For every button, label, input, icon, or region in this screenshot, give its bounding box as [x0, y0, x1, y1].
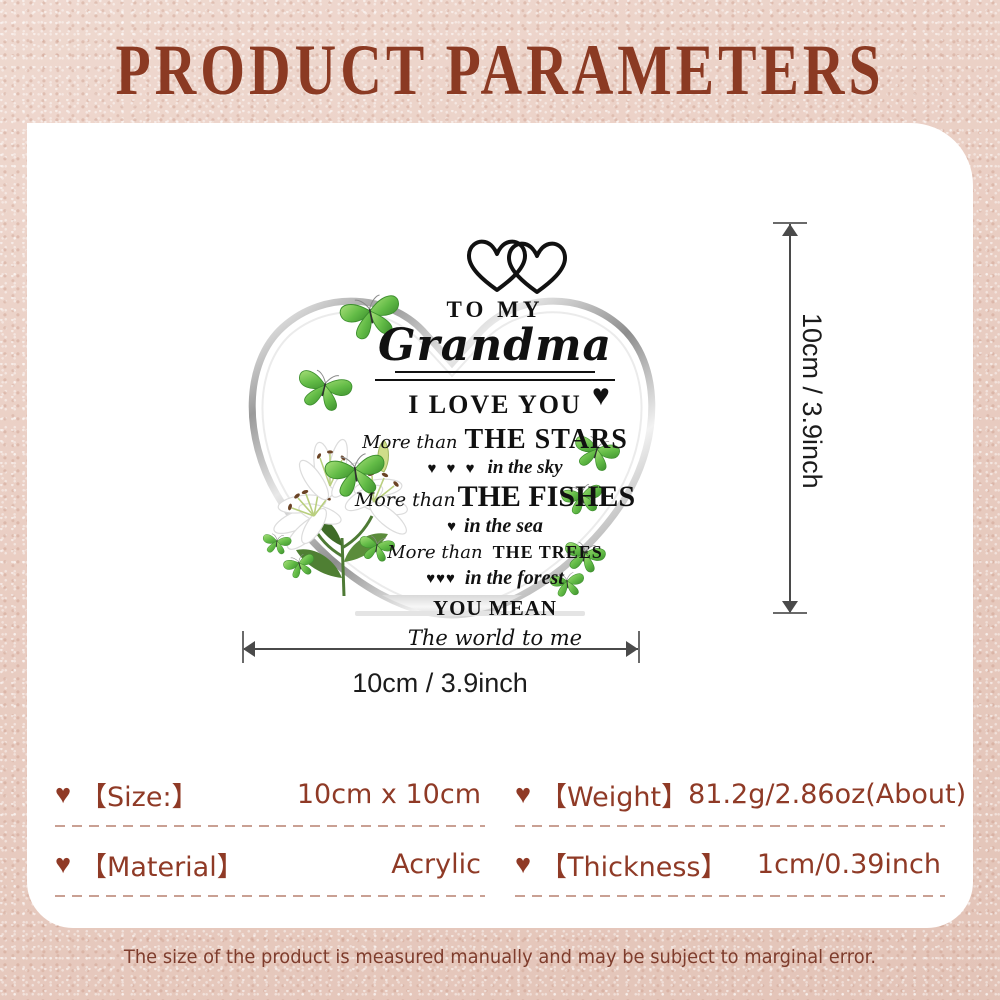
spec-value-thickness: 1cm/0.39inch	[757, 849, 945, 880]
width-dimension-label: 10cm / 3.9inch	[241, 668, 639, 699]
solid-heart-accent: ♥	[592, 381, 610, 411]
spec-value-size: 10cm x 10cm	[297, 779, 485, 810]
heart-bullet-icon: ♥	[55, 851, 71, 878]
spec-column-right: ♥ 【Weight】 81.2g/2.86oz(About) ♥ 【Thickn…	[515, 763, 945, 903]
grandma-underline-1	[395, 371, 595, 373]
height-dimension-label: 10cm / 3.9inch	[796, 313, 827, 489]
text-in-the-sky: in the sky	[488, 457, 563, 479]
product-illustration: TO MY Grandma I LOVE YOU More than THE S…	[27, 123, 973, 703]
content-card: TO MY Grandma I LOVE YOU More than THE S…	[27, 123, 973, 928]
text-in-the-forest: in the forest	[465, 567, 564, 590]
engraved-text-block: TO MY Grandma I LOVE YOU More than THE S…	[345, 297, 645, 650]
bold-the-fishes: THE FISHES	[458, 480, 636, 514]
spec-row-weight: ♥ 【Weight】 81.2g/2.86oz(About)	[515, 763, 945, 833]
spec-row-size: ♥ 【Size:】 10cm x 10cm	[55, 763, 485, 833]
spec-row-material: ♥ 【Material】 Acrylic	[55, 833, 485, 903]
heart-divider-3: ♥♥♥	[426, 570, 456, 587]
engraved-you-mean: YOU MEAN	[345, 596, 645, 621]
grandma-underline-2	[375, 379, 615, 381]
script-more-than-1: More than	[362, 432, 457, 453]
bold-the-stars: THE STARS	[465, 424, 628, 456]
spec-row-thickness: ♥ 【Thickness】 1cm/0.39inch	[515, 833, 945, 903]
bold-the-trees: THE TREES	[493, 542, 603, 563]
spec-divider	[515, 825, 945, 827]
engraved-world-to-me: The world to me	[345, 626, 645, 650]
spec-value-weight: 81.2g/2.86oz(About)	[688, 779, 970, 810]
spec-divider	[55, 825, 485, 827]
engraved-forest-line: ♥♥♥ in the forest	[345, 567, 645, 590]
acrylic-heart-plaque: TO MY Grandma I LOVE YOU More than THE S…	[237, 223, 667, 623]
engraved-sky-line: ♥ ♥ ♥ in the sky	[345, 457, 645, 479]
spec-key-thickness: 【Thickness】	[540, 845, 727, 884]
spec-value-material: Acrylic	[391, 849, 485, 880]
spec-divider	[515, 895, 945, 897]
heart-divider-2: ♥	[447, 518, 456, 535]
engraved-fishes-line: More than THE FISHES	[345, 480, 645, 514]
disclaimer-note: The size of the product is measured manu…	[30, 946, 970, 968]
script-more-than-2: More than	[355, 489, 456, 511]
spec-divider	[55, 895, 485, 897]
engraved-grandma: Grandma	[345, 322, 645, 370]
text-in-the-sea: in the sea	[464, 515, 543, 538]
script-more-than-3: More than	[387, 542, 482, 563]
heart-bullet-icon: ♥	[55, 781, 71, 808]
page-title: PRODUCT PARAMETERS	[100, 34, 900, 106]
heart-divider-1: ♥ ♥ ♥	[427, 460, 477, 477]
spec-column-left: ♥ 【Size:】 10cm x 10cm ♥ 【Material】 Acryl…	[55, 763, 485, 903]
heart-bullet-icon: ♥	[515, 851, 531, 878]
engraved-sea-line: ♥ in the sea	[345, 515, 645, 538]
spec-key-size: 【Size:】	[80, 775, 199, 814]
engraved-trees-line: More than THE TREES	[345, 542, 645, 563]
heart-bullet-icon: ♥	[515, 781, 531, 808]
engraved-stars-line: More than THE STARS	[345, 424, 645, 456]
spec-key-weight: 【Weight】	[540, 775, 688, 814]
spec-key-material: 【Material】	[80, 845, 244, 884]
